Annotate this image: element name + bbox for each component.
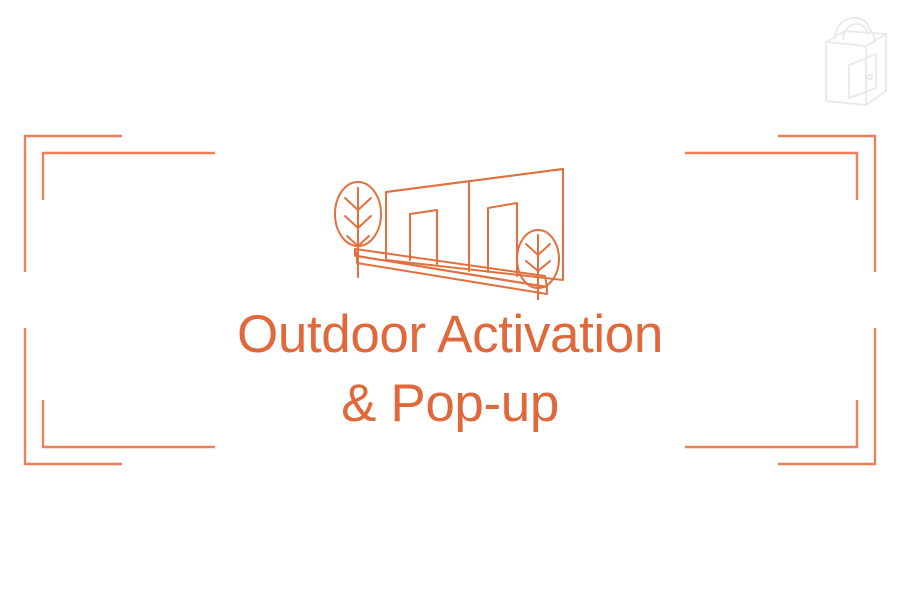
bracket-top-left-outer: [25, 136, 122, 272]
slide-canvas: Outdoor Activation & Pop-up: [0, 0, 900, 600]
bracket-top-right-inner: [685, 153, 857, 200]
doorway-left: [410, 210, 437, 264]
building-top-edge: [386, 169, 563, 192]
title-line-1: Outdoor Activation: [0, 300, 900, 369]
bag-left-face: [826, 42, 866, 105]
bag-door-knob: [868, 75, 872, 79]
tree-left: [335, 182, 381, 277]
bracket-top-right-outer: [778, 136, 875, 272]
page-title: Outdoor Activation & Pop-up: [0, 300, 900, 438]
outdoor-storefront-illustration: [325, 152, 575, 300]
shopping-bag-icon: [818, 8, 896, 108]
bracket-top-left-inner: [43, 153, 215, 200]
doorway-right: [488, 203, 517, 276]
title-line-2: & Pop-up: [0, 369, 900, 438]
building-facade: [386, 169, 563, 280]
